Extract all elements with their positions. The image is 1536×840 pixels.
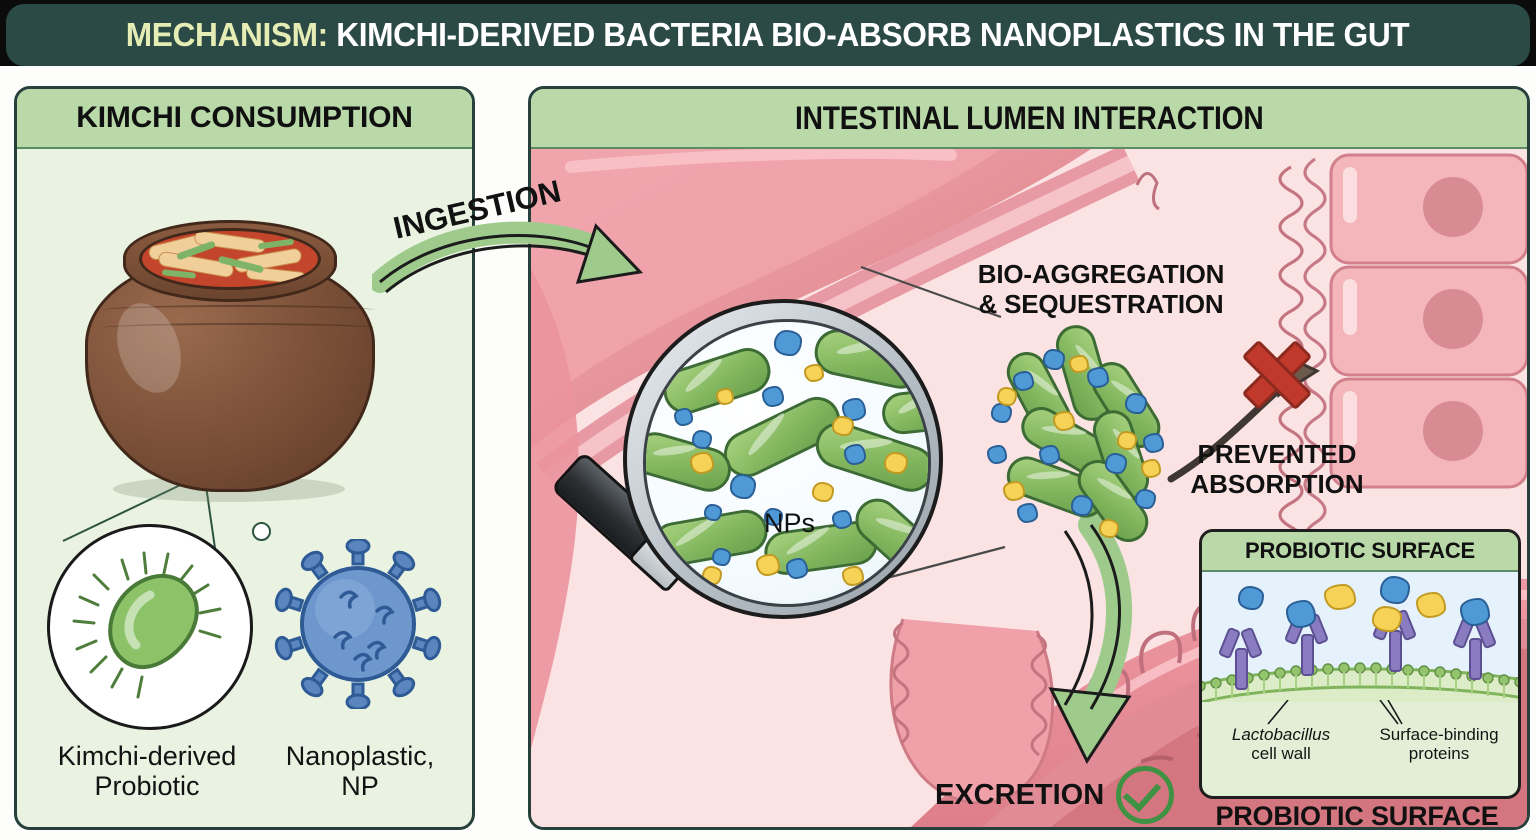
kimchi-pot-illustration [77,204,377,494]
excretion-label: EXCRETION [935,779,1104,812]
header-label: MECHANISM: [126,16,328,53]
surface-binding-protein [1458,618,1488,674]
prevented-absorption-label: PREVENTED ABSORPTION [1173,439,1381,499]
magnifier-rim: NPs [623,299,943,619]
magnifier-lens-field: NPs [643,319,931,607]
surface-binding-protein [1224,628,1254,684]
magnifier-lens: NPs [623,299,943,619]
nanoplastic-yellow [1416,592,1446,618]
probiotic-bacterium-icon [50,527,250,727]
panel-left-title: KIMCHI CONSUMPTION [76,101,412,135]
pot-zoom-anchor [252,522,271,541]
nanoplastic-blue [1380,576,1410,604]
panel-left-header: KIMCHI CONSUMPTION [17,89,472,149]
excretion-label-group: EXCRETION [935,766,1174,824]
nanoplastic-blue [1286,600,1316,628]
panel-intestinal-lumen-interaction: INTESTINAL LUMEN INTERACTION [528,86,1530,830]
legend-cell-wall-genus: Lactobacillus [1232,725,1330,744]
nanoplastic-particle-icon [273,539,443,709]
green-check-circle-icon [1116,766,1174,824]
nanoplastic-yellow [1324,584,1356,610]
inset-legend: Lactobacillus cell wall Surface-binding … [1202,722,1518,763]
legend-surface-binding-proteins: Surface-binding proteins [1360,726,1518,763]
nps-label: NPs [764,508,815,539]
page-title: MECHANISM: KIMCHI-DERIVED BACTERIA BIO-A… [126,16,1410,54]
probiotic-surface-caption: PROBIOTIC SURFACE [1199,801,1515,830]
legend-cell-wall: Lactobacillus cell wall [1202,726,1360,763]
kimchi-contents [139,228,321,290]
red-x-icon [1245,341,1311,407]
probiotic-surface-inset: PROBIOTIC SURFACE [1199,529,1521,799]
header-bar: MECHANISM: KIMCHI-DERIVED BACTERIA BIO-A… [6,4,1530,66]
nanoplastic-blue [1238,586,1264,610]
legend-cell-wall-rest: cell wall [1251,744,1311,763]
panel-right-title: INTESTINAL LUMEN INTERACTION [795,100,1264,137]
panel-right-body: NPs BIO-AGGREGATION & SEQUESTRATION [531,149,1527,827]
header-title-text: KIMCHI-DERIVED BACTERIA BIO-ABSORB NANOP… [337,16,1410,53]
caption-probiotic: Kimchi-derived Probiotic [31,741,263,801]
inset-title: PROBIOTIC SURFACE [1245,538,1475,564]
nanoplastic-blue [1460,598,1490,626]
inset-illustration [1202,572,1518,702]
infographic-root: MECHANISM: KIMCHI-DERIVED BACTERIA BIO-A… [0,0,1536,840]
bio-aggregation-label: BIO-AGGREGATION & SEQUESTRATION [951,259,1251,319]
caption-nanoplastic: Nanoplastic, NP [265,741,455,801]
panel-right-header: INTESTINAL LUMEN INTERACTION [531,89,1527,149]
nanoplastic-yellow [1372,606,1402,632]
bacteria-nanoplastic-aggregate [983,349,1183,549]
probiotic-zoom-circle [47,524,253,730]
inset-header: PROBIOTIC SURFACE [1202,532,1518,572]
